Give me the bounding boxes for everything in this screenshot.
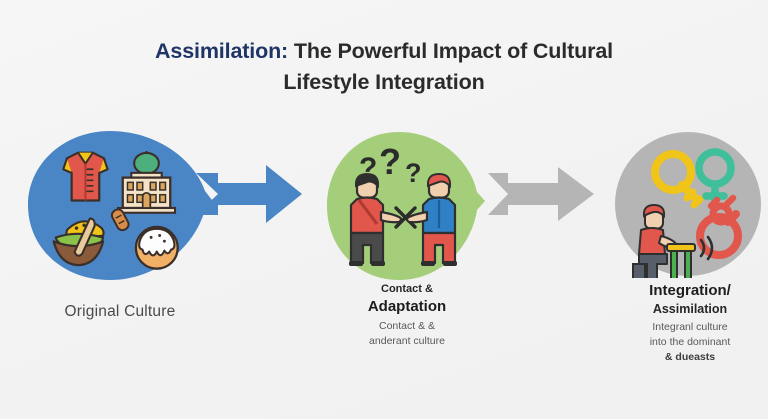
svg-text:?: ? <box>379 141 401 182</box>
caption-integration-line1: Integration/ <box>600 281 768 301</box>
caption-integration-assimilation: Integration/ Assimilation Integranl cult… <box>600 281 768 365</box>
traditional-shirt-icon <box>63 153 107 201</box>
government-building-icon <box>118 151 175 213</box>
arrow-two <box>488 165 596 223</box>
iced-bun-icon <box>136 227 178 269</box>
caption-contact-line2: Adaptation <box>312 297 502 317</box>
stage-blob-original-culture <box>26 129 216 282</box>
caption-contact-line1: Contact & <box>312 282 502 297</box>
caption-integration-sub-line1: Integranl culture <box>600 320 768 335</box>
infographic-canvas: Assimilation: The Powerful Impact of Cul… <box>0 0 768 419</box>
page-title: Assimilation: The Powerful Impact of Cul… <box>0 36 768 97</box>
caption-integration-sub-line2: into the dominant <box>600 335 768 350</box>
icon-layer-original-culture <box>26 129 216 282</box>
title-line-1: Assimilation: The Powerful Impact of Cul… <box>0 36 768 67</box>
caption-original-culture-text: Original Culture <box>10 303 230 321</box>
icon-layer-integration-assimilation <box>613 130 763 278</box>
caption-original-culture: Original Culture <box>10 303 230 321</box>
title-accent-word: Assimilation: <box>155 39 288 63</box>
arrow-one-shape <box>196 163 304 225</box>
title-line-2: Lifestyle Integration <box>0 67 768 98</box>
caption-contact-adaptation: Contact & Adaptation Contact & & anderan… <box>312 282 502 349</box>
caption-integration-sub: Integranl culture into the dominant & du… <box>600 320 768 365</box>
arrow-two-shape <box>488 165 596 223</box>
icon-layer-contact-adaptation: ? ? ? <box>325 130 489 282</box>
caption-integration-sub-line3: & dueasts <box>600 350 768 365</box>
title-line-1-rest: The Powerful Impact of Cultural <box>288 39 613 63</box>
caption-contact-sub-line1: Contact & & <box>312 319 502 334</box>
gender-symbol-yellow-icon <box>655 154 700 205</box>
stage-blob-contact-adaptation: ? ? ? <box>325 130 489 282</box>
stage-row: ? ? ? <box>0 125 768 285</box>
stage-blob-integration-assimilation <box>613 130 763 278</box>
caption-contact-sub: Contact & & anderant culture <box>312 319 502 349</box>
svg-text:?: ? <box>405 158 422 188</box>
person-red-icon <box>349 174 401 266</box>
caption-contact-sub-line2: anderant culture <box>312 334 502 349</box>
gender-symbol-red-icon <box>700 198 738 255</box>
caption-integration-line2: Assimilation <box>600 301 768 318</box>
food-bowl-icon <box>54 219 104 266</box>
arrow-one <box>196 163 304 225</box>
